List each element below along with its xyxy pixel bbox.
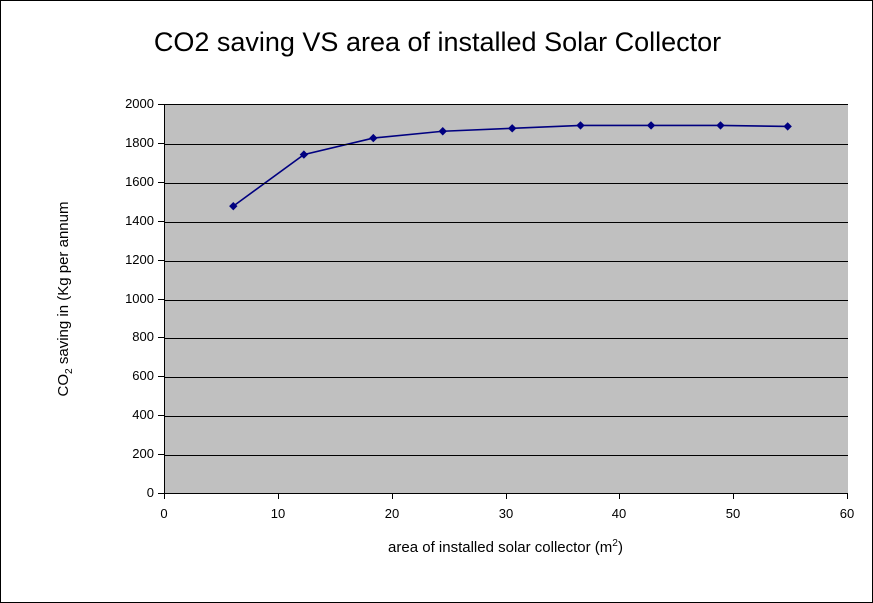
x-axis-title-tail: ) bbox=[618, 539, 623, 556]
series-markers bbox=[229, 121, 792, 210]
y-axis-tick bbox=[158, 454, 164, 455]
x-axis-tick bbox=[619, 493, 620, 499]
chart-container: CO2 saving VS area of installed Solar Co… bbox=[0, 0, 873, 603]
gridline-horizontal bbox=[165, 144, 848, 145]
x-axis-title: area of installed solar collector (m2) bbox=[164, 538, 847, 556]
y-axis-tick-label: 400 bbox=[132, 407, 154, 422]
series-data-point bbox=[783, 122, 791, 130]
x-axis-tick bbox=[164, 493, 165, 499]
y-axis-title-text: CO bbox=[55, 374, 72, 397]
y-axis-tick bbox=[158, 376, 164, 377]
y-axis-title-tail: saving in (Kg per annum bbox=[55, 202, 72, 369]
y-axis-tick-label: 1000 bbox=[125, 291, 154, 306]
y-axis-tick-label: 800 bbox=[132, 329, 154, 344]
gridline-horizontal bbox=[165, 377, 848, 378]
y-axis-tick-label: 1400 bbox=[125, 213, 154, 228]
y-axis-tick-label: 0 bbox=[147, 485, 154, 500]
x-axis-tick-label: 60 bbox=[840, 506, 854, 521]
x-axis-tick-label: 40 bbox=[612, 506, 626, 521]
y-axis-tick-labels: 0200400600800100012001400160018002000 bbox=[1, 1, 154, 603]
x-axis-tick bbox=[847, 493, 848, 499]
y-axis-tick bbox=[158, 143, 164, 144]
y-axis-tick-label: 2000 bbox=[125, 96, 154, 111]
plot-area bbox=[164, 104, 848, 494]
series-data-point bbox=[716, 121, 724, 129]
y-axis-tick-label: 1800 bbox=[125, 135, 154, 150]
x-axis-tick bbox=[278, 493, 279, 499]
x-axis-tick-label: 30 bbox=[499, 506, 513, 521]
y-axis-tick-label: 600 bbox=[132, 368, 154, 383]
x-axis-tick-label: 20 bbox=[385, 506, 399, 521]
x-axis-tick-label: 10 bbox=[271, 506, 285, 521]
y-axis-tick-label: 200 bbox=[132, 446, 154, 461]
y-axis-tick bbox=[158, 221, 164, 222]
x-axis-tick bbox=[733, 493, 734, 499]
x-axis-tick-label: 0 bbox=[160, 506, 167, 521]
y-axis-title: CO2 saving in (Kg per annum bbox=[55, 202, 75, 397]
gridline-horizontal bbox=[165, 222, 848, 223]
x-axis-tick bbox=[392, 493, 393, 499]
gridline-horizontal bbox=[165, 183, 848, 184]
series-data-point bbox=[369, 134, 377, 142]
series-data-point bbox=[439, 127, 447, 135]
y-axis-tick bbox=[158, 415, 164, 416]
y-axis-line bbox=[164, 104, 165, 494]
y-axis-title-subscript: 2 bbox=[64, 368, 75, 374]
gridline-horizontal bbox=[165, 338, 848, 339]
y-axis-tick-label: 1200 bbox=[125, 252, 154, 267]
y-axis-tick bbox=[158, 299, 164, 300]
y-axis-tick bbox=[158, 260, 164, 261]
gridline-horizontal bbox=[165, 455, 848, 456]
series-data-point bbox=[508, 124, 516, 132]
y-axis-tick bbox=[158, 104, 164, 105]
gridline-horizontal bbox=[165, 416, 848, 417]
gridline-horizontal bbox=[165, 261, 848, 262]
y-axis-tick bbox=[158, 182, 164, 183]
x-axis-tick bbox=[506, 493, 507, 499]
series-data-point bbox=[576, 121, 584, 129]
x-axis-tick-label: 50 bbox=[726, 506, 740, 521]
series-line bbox=[233, 125, 787, 206]
gridline-horizontal bbox=[165, 300, 848, 301]
series-data-point bbox=[647, 121, 655, 129]
x-axis-title-text: area of installed solar collector (m bbox=[388, 539, 612, 556]
y-axis-tick bbox=[158, 337, 164, 338]
y-axis-tick-label: 1600 bbox=[125, 174, 154, 189]
